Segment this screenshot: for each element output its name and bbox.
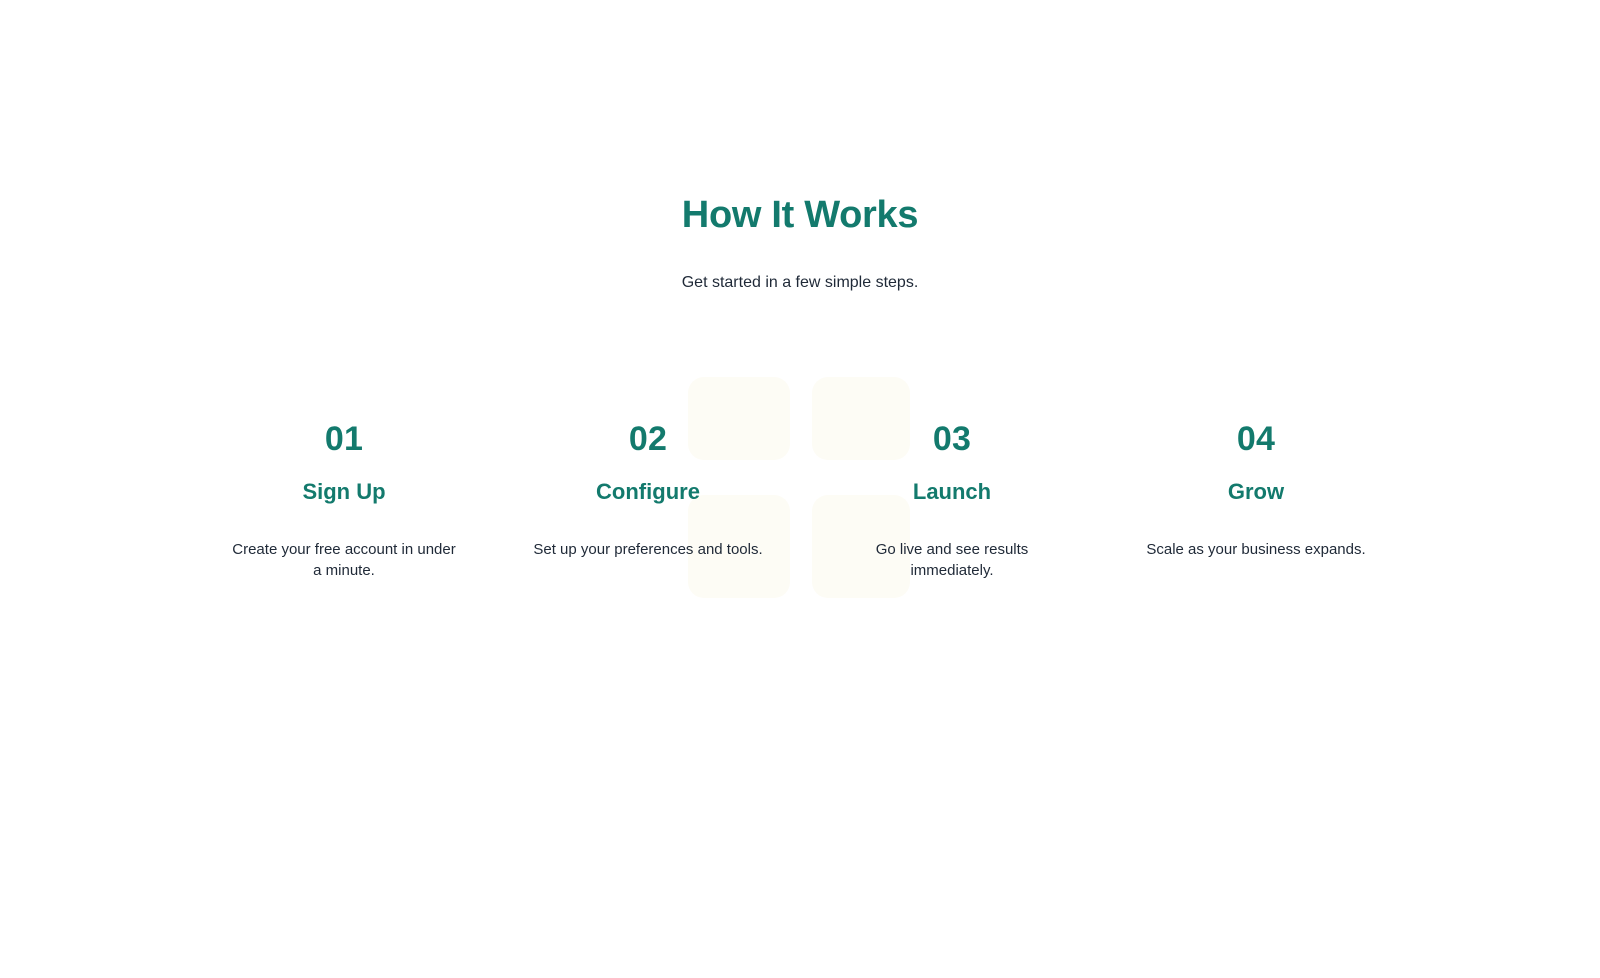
page-title: How It Works — [0, 192, 1600, 238]
step-title: Launch — [800, 478, 1104, 506]
step-description: Set up your preferences and tools. — [532, 539, 764, 560]
section-subtitle: Get started in a few simple steps. — [0, 238, 1600, 295]
step-description: Go live and see results immediately. — [836, 539, 1068, 581]
step-item-1: 01 Sign Up Create your free account in u… — [192, 419, 496, 581]
step-item-2: 02 Configure Set up your preferences and… — [496, 419, 800, 560]
step-item-4: 04 Grow Scale as your business expands. — [1104, 419, 1408, 560]
step-title: Grow — [1104, 478, 1408, 506]
step-number: 03 — [800, 419, 1104, 459]
steps-list: 01 Sign Up Create your free account in u… — [0, 419, 1600, 581]
step-number: 02 — [496, 419, 800, 459]
step-title: Sign Up — [192, 478, 496, 506]
step-item-3: 03 Launch Go live and see results immedi… — [800, 419, 1104, 581]
step-number: 04 — [1104, 419, 1408, 459]
step-description: Scale as your business expands. — [1140, 539, 1372, 560]
step-number: 01 — [192, 419, 496, 459]
step-description: Create your free account in under a minu… — [228, 539, 460, 581]
how-it-works-section: How It Works Get started in a few simple… — [0, 0, 1600, 581]
step-title: Configure — [496, 478, 800, 506]
